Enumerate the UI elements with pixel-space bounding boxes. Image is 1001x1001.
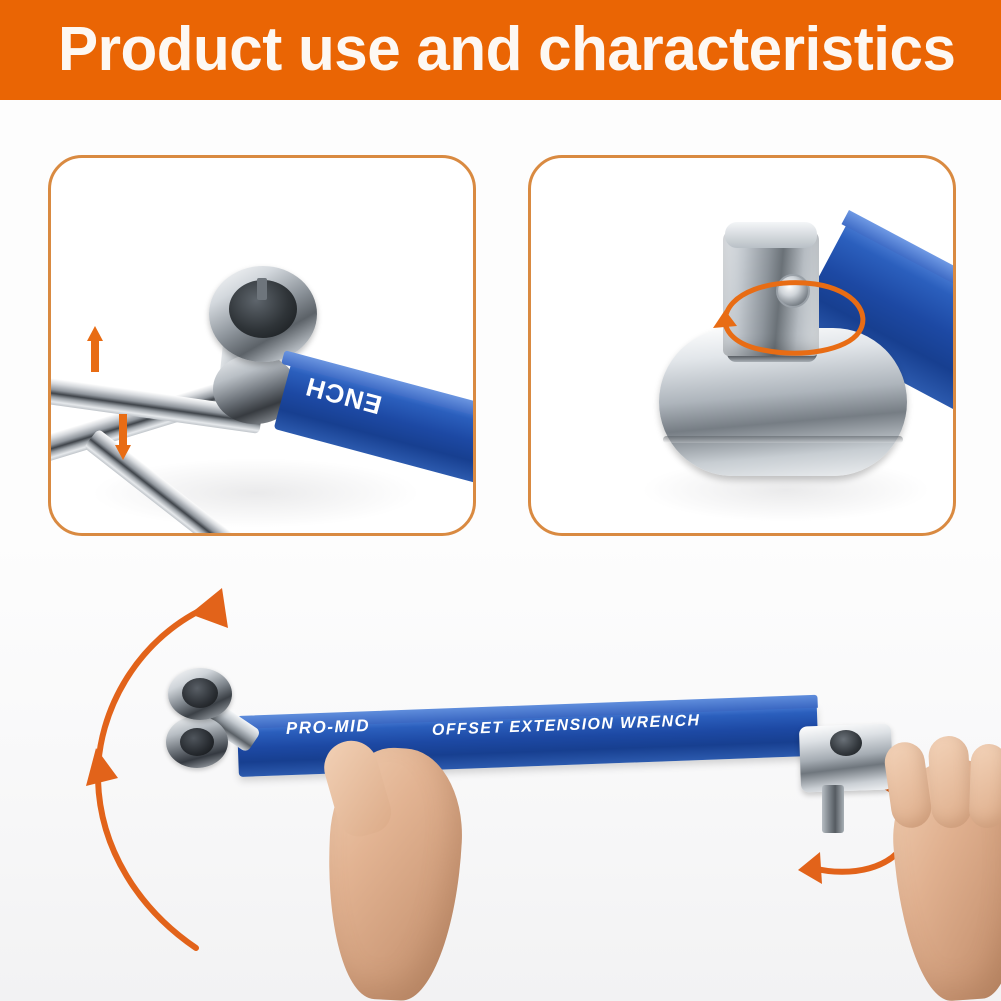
anvil-seam-line bbox=[663, 436, 903, 443]
square-drive-top-face bbox=[725, 222, 817, 248]
wrench-right-drive-stub bbox=[822, 785, 844, 833]
rotation-arrow-icon bbox=[699, 270, 879, 362]
hand-right-finger-ring bbox=[969, 743, 1001, 828]
hand-right-finger-middle bbox=[928, 735, 973, 829]
hands-holding-wrench-scene bbox=[0, 540, 1001, 1001]
page-title: Product use and characteristics bbox=[58, 17, 960, 83]
panel-square-drive bbox=[528, 155, 956, 536]
wrench-left-bore-lower bbox=[180, 728, 214, 756]
panel-pivot-head: ENCH bbox=[48, 155, 476, 536]
arrow-up-icon bbox=[87, 326, 103, 372]
wrench-left-bore-upper bbox=[182, 678, 218, 708]
wrench-right-socket bbox=[830, 730, 862, 756]
product-brand-label: PRO-MID bbox=[286, 716, 371, 739]
product-feature-image: Product use and characteristics ENCH bbox=[0, 0, 1001, 1001]
ratchet-pawl bbox=[257, 278, 267, 300]
panel-pivot-head-photo: ENCH bbox=[51, 158, 473, 533]
header-banner: Product use and characteristics bbox=[0, 0, 1001, 100]
panel-square-drive-photo bbox=[531, 158, 953, 533]
arrow-down-icon bbox=[115, 414, 131, 460]
